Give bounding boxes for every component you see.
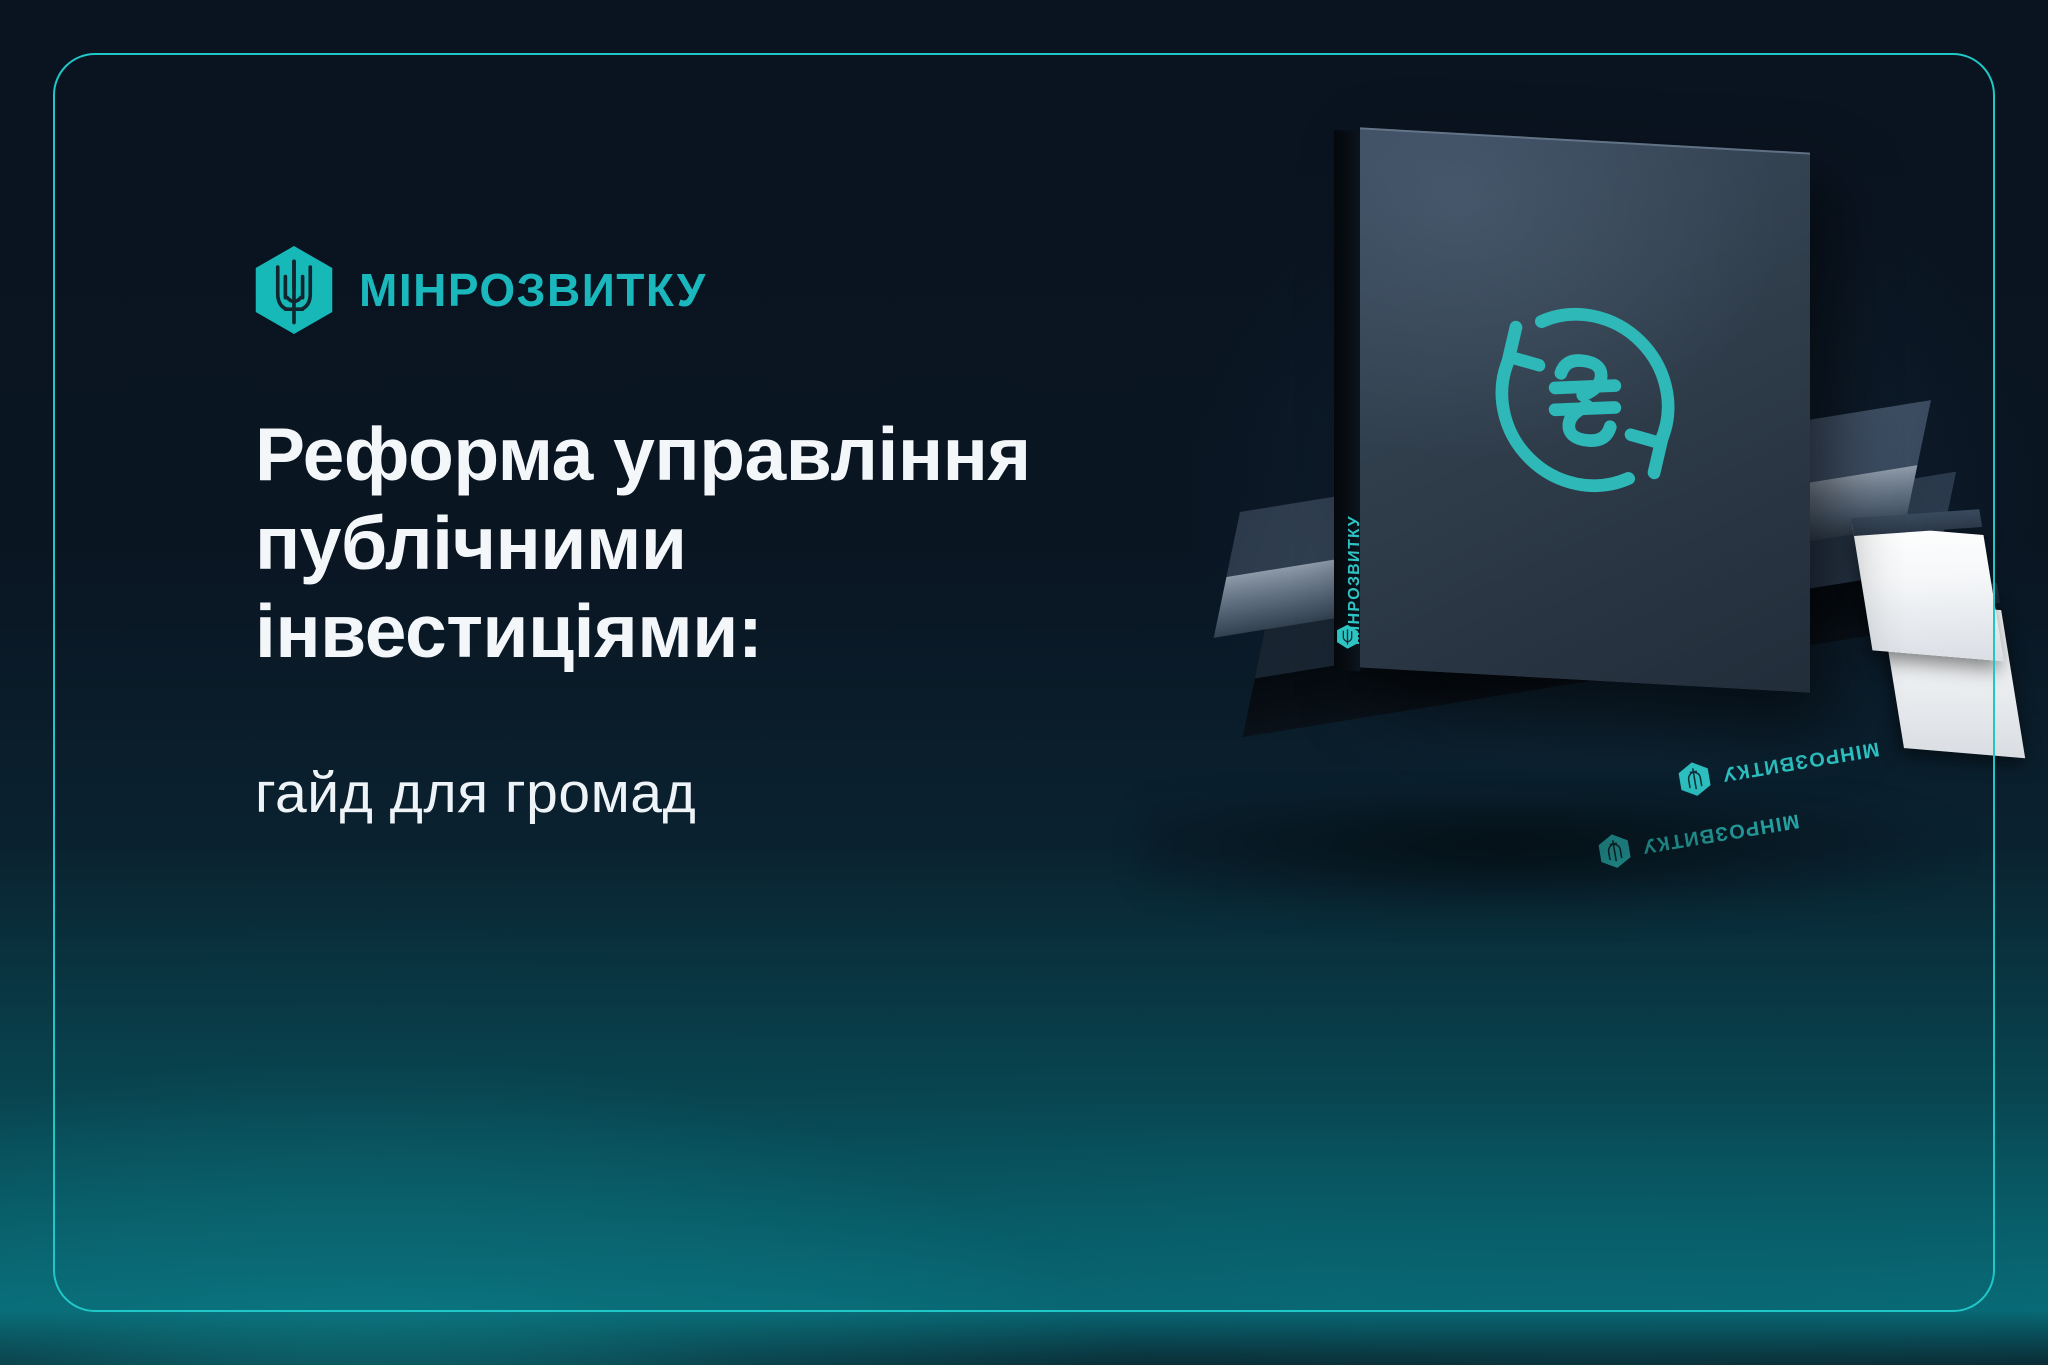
- spine-wordmark: МІНРОЗВИТКУ: [1720, 737, 1881, 786]
- trident-hexagon-icon: [255, 246, 333, 334]
- trident-hexagon-icon: [1337, 624, 1358, 649]
- standing-book: МІНРОЗВИТКУ: [1360, 127, 1810, 692]
- page-subtitle: гайд для громад: [255, 760, 696, 826]
- standing-book-cover: [1360, 127, 1810, 692]
- brand-wordmark: МІНРОЗВИТКУ: [359, 267, 707, 313]
- standing-book-spine: МІНРОЗВИТКУ: [1334, 130, 1360, 671]
- hryvnia-cycle-icon: [1470, 279, 1700, 522]
- book-floor-shadow: [1140, 800, 1960, 920]
- trident-hexagon-icon: [1677, 760, 1712, 798]
- page-title: Реформа управління публічними інвестиція…: [255, 410, 1255, 676]
- brand-logo[interactable]: МІНРОЗВИТКУ: [255, 246, 707, 334]
- poster-canvas: МІНРОЗВИТКУ МІНРОЗВИТКУ: [0, 0, 2048, 1365]
- headline-line-3: інвестиціями:: [255, 587, 1255, 676]
- book-mockup: МІНРОЗВИТКУ МІНРОЗВИТКУ: [1180, 120, 2040, 880]
- stacked-book-top-spine-label: МІНРОЗВИТКУ: [1677, 732, 1882, 799]
- headline-line-2: публічними: [255, 499, 1255, 588]
- headline-line-1: Реформа управління: [255, 410, 1255, 499]
- book-top-page-edge: [1852, 524, 2004, 661]
